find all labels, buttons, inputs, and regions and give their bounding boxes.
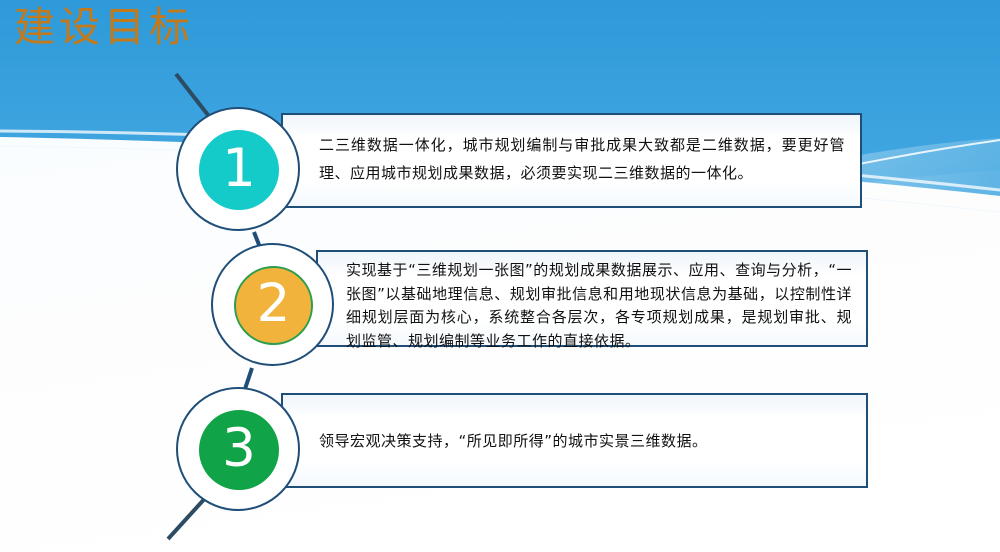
callout-text-2: 实现基于“三维规划一张图”的规划成果数据展示、应用、查询与分析，“一张图”以基础… [346,259,852,353]
step-node-1[interactable]: 1 [176,107,300,231]
callout-text-3: 领导宏观决策支持，“所见即所得”的城市实景三维数据。 [319,427,849,455]
step-number-circle-1: 1 [199,130,279,210]
step-number-label-2: 2 [257,277,291,330]
step-node-3[interactable]: 3 [176,387,300,511]
step-number-label-3: 3 [222,422,256,475]
callout-box-3: 领导宏观决策支持，“所见即所得”的城市实景三维数据。 [281,393,868,488]
step-number-circle-3: 3 [199,410,279,490]
callout-text-1: 二三维数据一体化，城市规划编制与审批成果大致都是二维数据，要更好管理、应用城市规… [319,131,845,187]
slide: 建设目标 二三维数据一体化，城市规划编制与审批成果大致都是二维数据，要更好管理、… [0,0,1000,552]
callout-box-2: 实现基于“三维规划一张图”的规划成果数据展示、应用、查询与分析，“一张图”以基础… [316,250,868,347]
step-number-label-1: 1 [222,142,256,195]
callout-box-1: 二三维数据一体化，城市规划编制与审批成果大致都是二维数据，要更好管理、应用城市规… [281,113,862,208]
step-number-circle-2: 2 [234,266,313,345]
connector-bottom [168,495,208,539]
step-node-2[interactable]: 2 [211,243,334,366]
